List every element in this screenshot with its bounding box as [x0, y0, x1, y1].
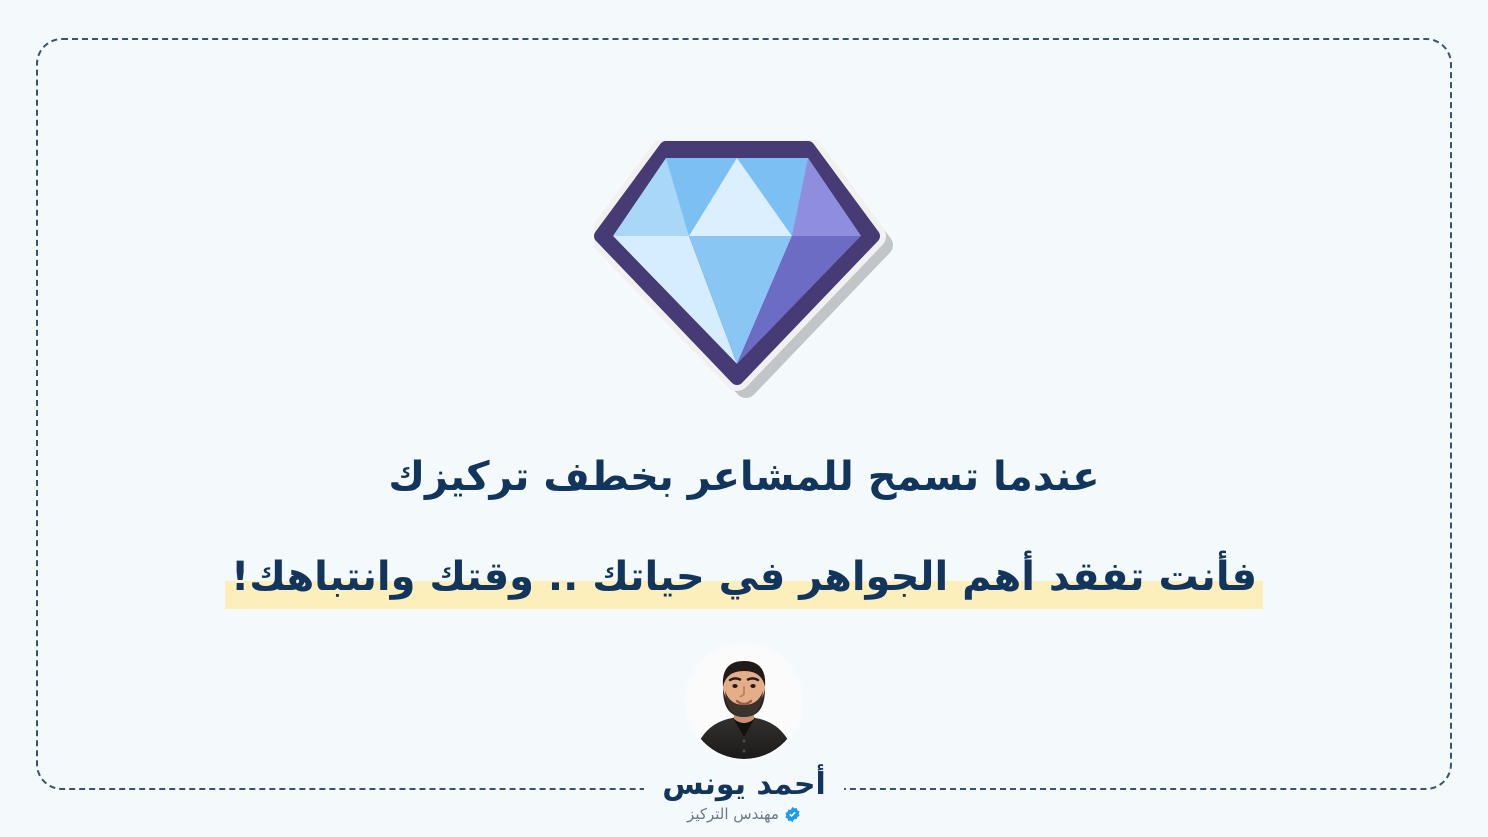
author-name: أحمد يونس [644, 767, 844, 803]
author-avatar-photo [687, 645, 801, 759]
quote-line-2-highlighted: فأنت تفقد أهم الجواهر في حياتك .. وقتك و… [225, 545, 1263, 609]
author-role-label: مهندس التركيز [687, 804, 779, 824]
diamond-illustration [38, 140, 1450, 410]
quote-line-1: عندما تسمح للمشاعر بخطف تركيزك [38, 445, 1450, 509]
author-block: أحمد يونس مهندس التركيز [0, 645, 1488, 824]
diamond-gem-icon [594, 140, 894, 400]
verified-badge-icon [784, 806, 801, 823]
avatar [687, 645, 801, 759]
quote-line-2-row: فأنت تفقد أهم الجواهر في حياتك .. وقتك و… [38, 545, 1450, 617]
quote-block: عندما تسمح للمشاعر بخطف تركيزك فأنت تفقد… [38, 445, 1450, 617]
author-role-row: مهندس التركيز [675, 804, 813, 824]
